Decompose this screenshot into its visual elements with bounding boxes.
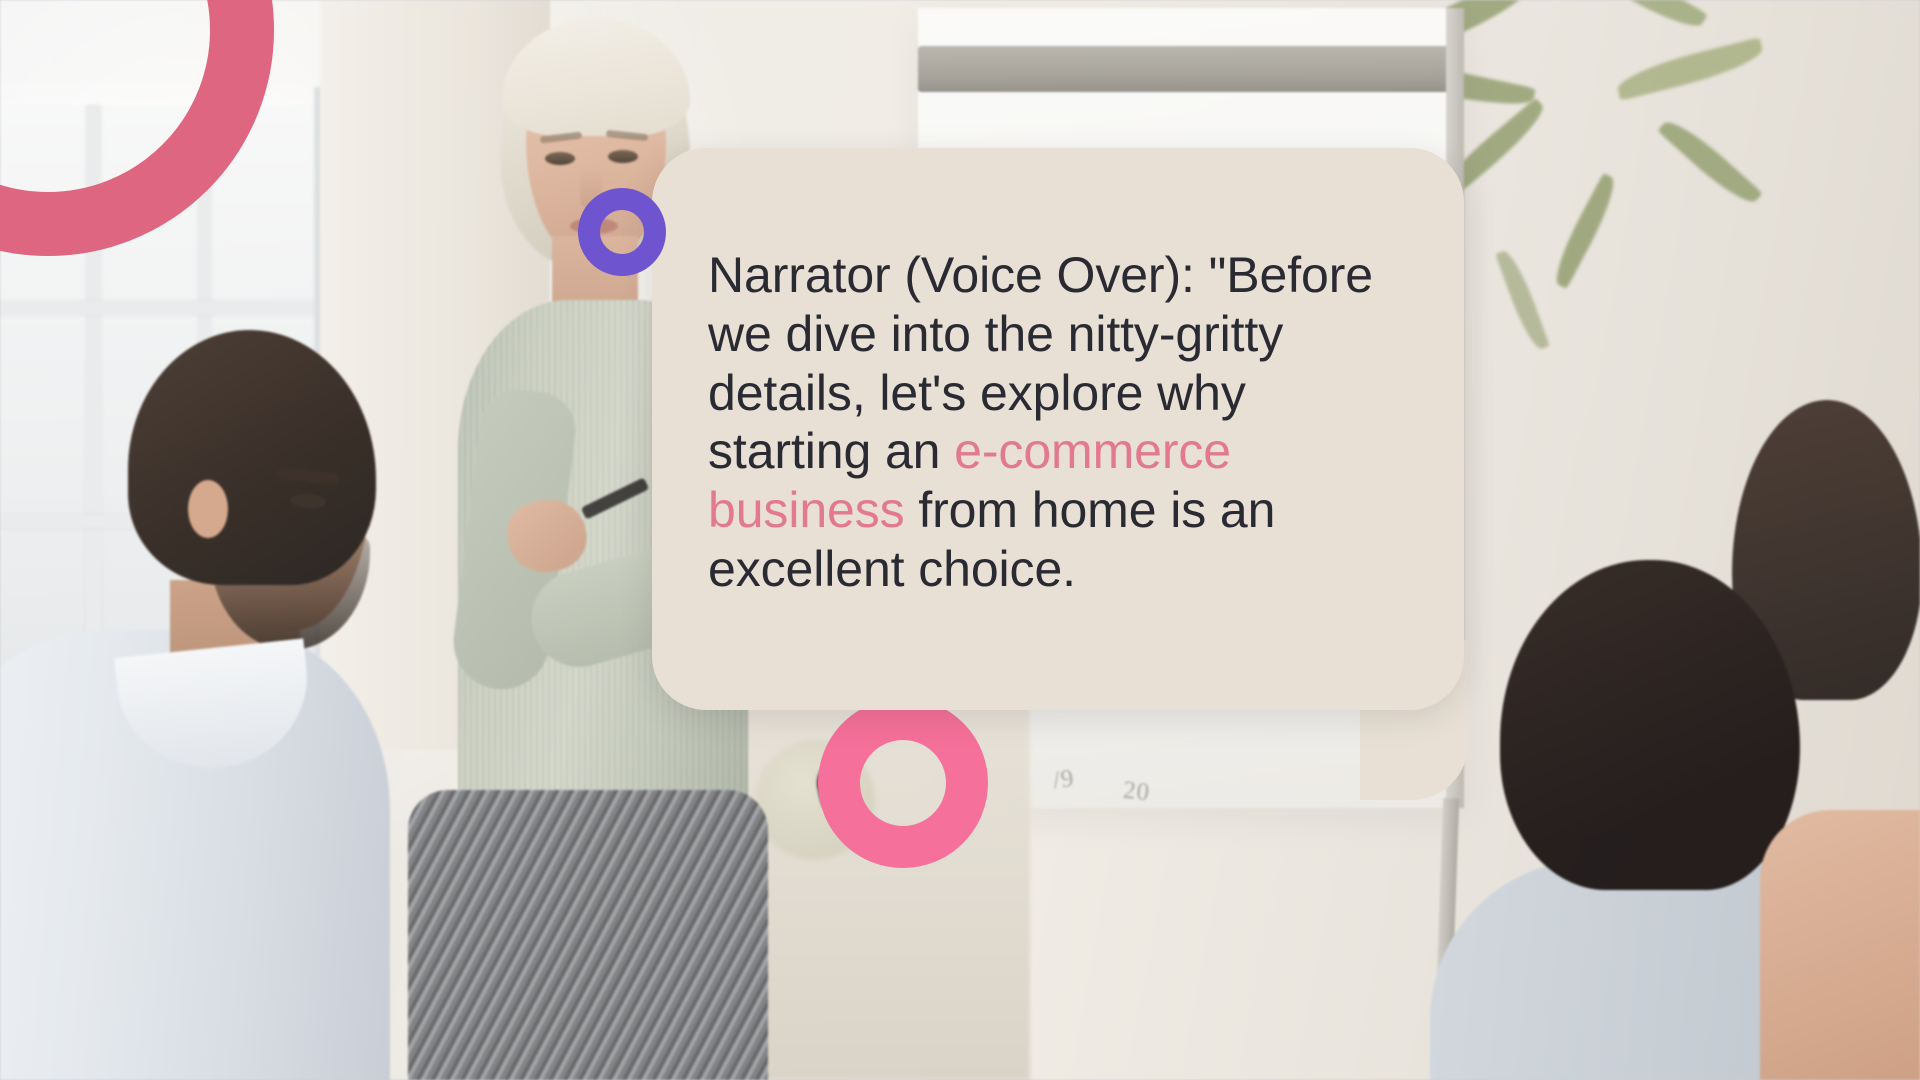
woman-skirt (408, 790, 768, 1080)
woman-eye (545, 152, 575, 165)
seated-person-right (1420, 560, 1920, 1080)
whiteboard-scrawl: /9 (1051, 765, 1076, 796)
plant-leaf (1495, 247, 1550, 353)
pink-ring-bottom-icon (818, 698, 988, 868)
purple-ring-icon (578, 188, 666, 276)
woman-fringe (502, 18, 690, 136)
plant-leaf (1657, 113, 1762, 211)
right-person-arm (1760, 810, 1920, 1080)
man-ear (188, 480, 228, 538)
caption-text: Narrator (Voice Over): "Before we dive i… (708, 246, 1408, 599)
plant-leaf (1547, 173, 1623, 289)
plant-leaf (1582, 0, 1708, 37)
woman-eye (608, 150, 638, 163)
flipchart-clamp (918, 46, 1464, 92)
video-frame: + /9 20 (0, 0, 1920, 1080)
man-hair (128, 330, 376, 585)
plant-leaf (1614, 37, 1766, 100)
seated-man-left (0, 330, 430, 1080)
window-mullion (0, 301, 320, 315)
whiteboard-scrawl: 20 (1122, 777, 1152, 808)
